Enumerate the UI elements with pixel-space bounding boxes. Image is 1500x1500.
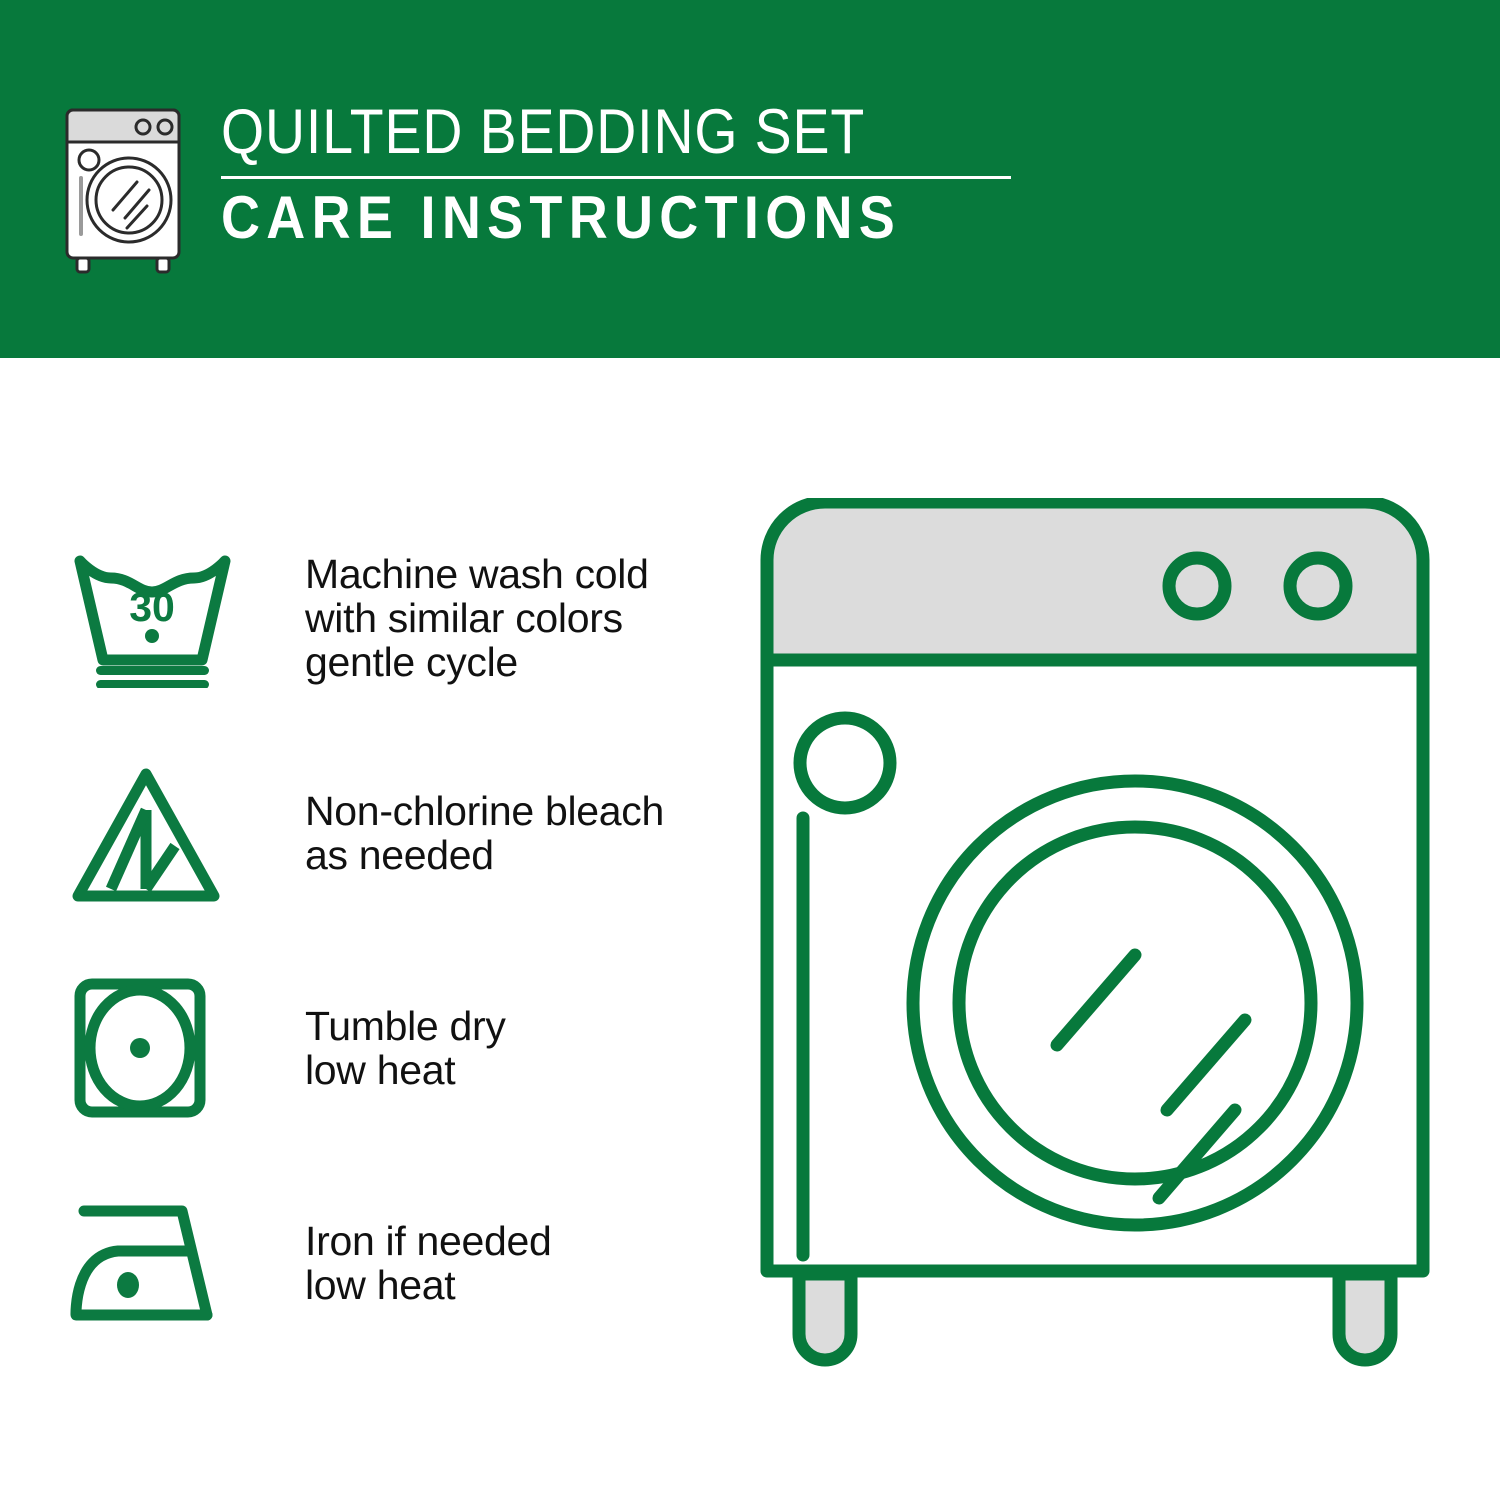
list-item: Non-chlorine bleach as needed: [70, 725, 720, 940]
detergent-dispenser-icon: [800, 718, 890, 808]
header-banner: QUILTED BEDDING SET CARE INSTRUCTIONS: [0, 0, 1500, 358]
leg-right: [1339, 1274, 1391, 1360]
washing-machine-icon: [55, 102, 203, 274]
leg-left: [799, 1274, 851, 1360]
bleach-triangle-icon: [70, 758, 235, 908]
door-stripe-1: [1057, 955, 1135, 1045]
title-divider: [221, 176, 1011, 179]
tumble-dry-low-icon: [70, 973, 235, 1123]
list-item: 30 Machine wash cold with similar colors…: [70, 510, 720, 725]
page-subtitle: CARE INSTRUCTIONS: [221, 185, 932, 251]
care-instruction-text: Iron if needed low heat: [305, 1219, 552, 1307]
care-instruction-text: Machine wash cold with similar colors ge…: [305, 552, 649, 684]
header-content: QUILTED BEDDING SET CARE INSTRUCTIONS: [55, 98, 1011, 274]
door-outer-ring: [913, 781, 1357, 1225]
front-load-washing-machine-illustration: [735, 498, 1455, 1398]
header-title-block: QUILTED BEDDING SET CARE INSTRUCTIONS: [221, 98, 1011, 251]
care-instruction-list: 30 Machine wash cold with similar colors…: [70, 510, 720, 1370]
control-panel: [767, 502, 1423, 660]
iron-low-heat-icon: [70, 1193, 235, 1333]
care-symbol-bleach: [70, 758, 240, 908]
care-symbol-iron: [70, 1188, 240, 1338]
care-symbol-wash: 30: [70, 543, 240, 693]
list-item: Tumble dry low heat: [70, 940, 720, 1155]
care-symbol-tumble-dry: [70, 973, 240, 1123]
care-instruction-text: Tumble dry low heat: [305, 1004, 506, 1092]
care-instruction-text: Non-chlorine bleach as needed: [305, 789, 664, 877]
door-inner-ring[interactable]: [959, 827, 1311, 1179]
wash-temperature-label: 30: [129, 584, 175, 630]
door-stripe-2: [1167, 1020, 1245, 1110]
list-item: Iron if needed low heat: [70, 1155, 720, 1370]
wash-tub-30-icon: 30: [70, 548, 235, 688]
main-content: 30 Machine wash cold with similar colors…: [0, 358, 1500, 1500]
page-title: QUILTED BEDDING SET: [221, 98, 916, 166]
